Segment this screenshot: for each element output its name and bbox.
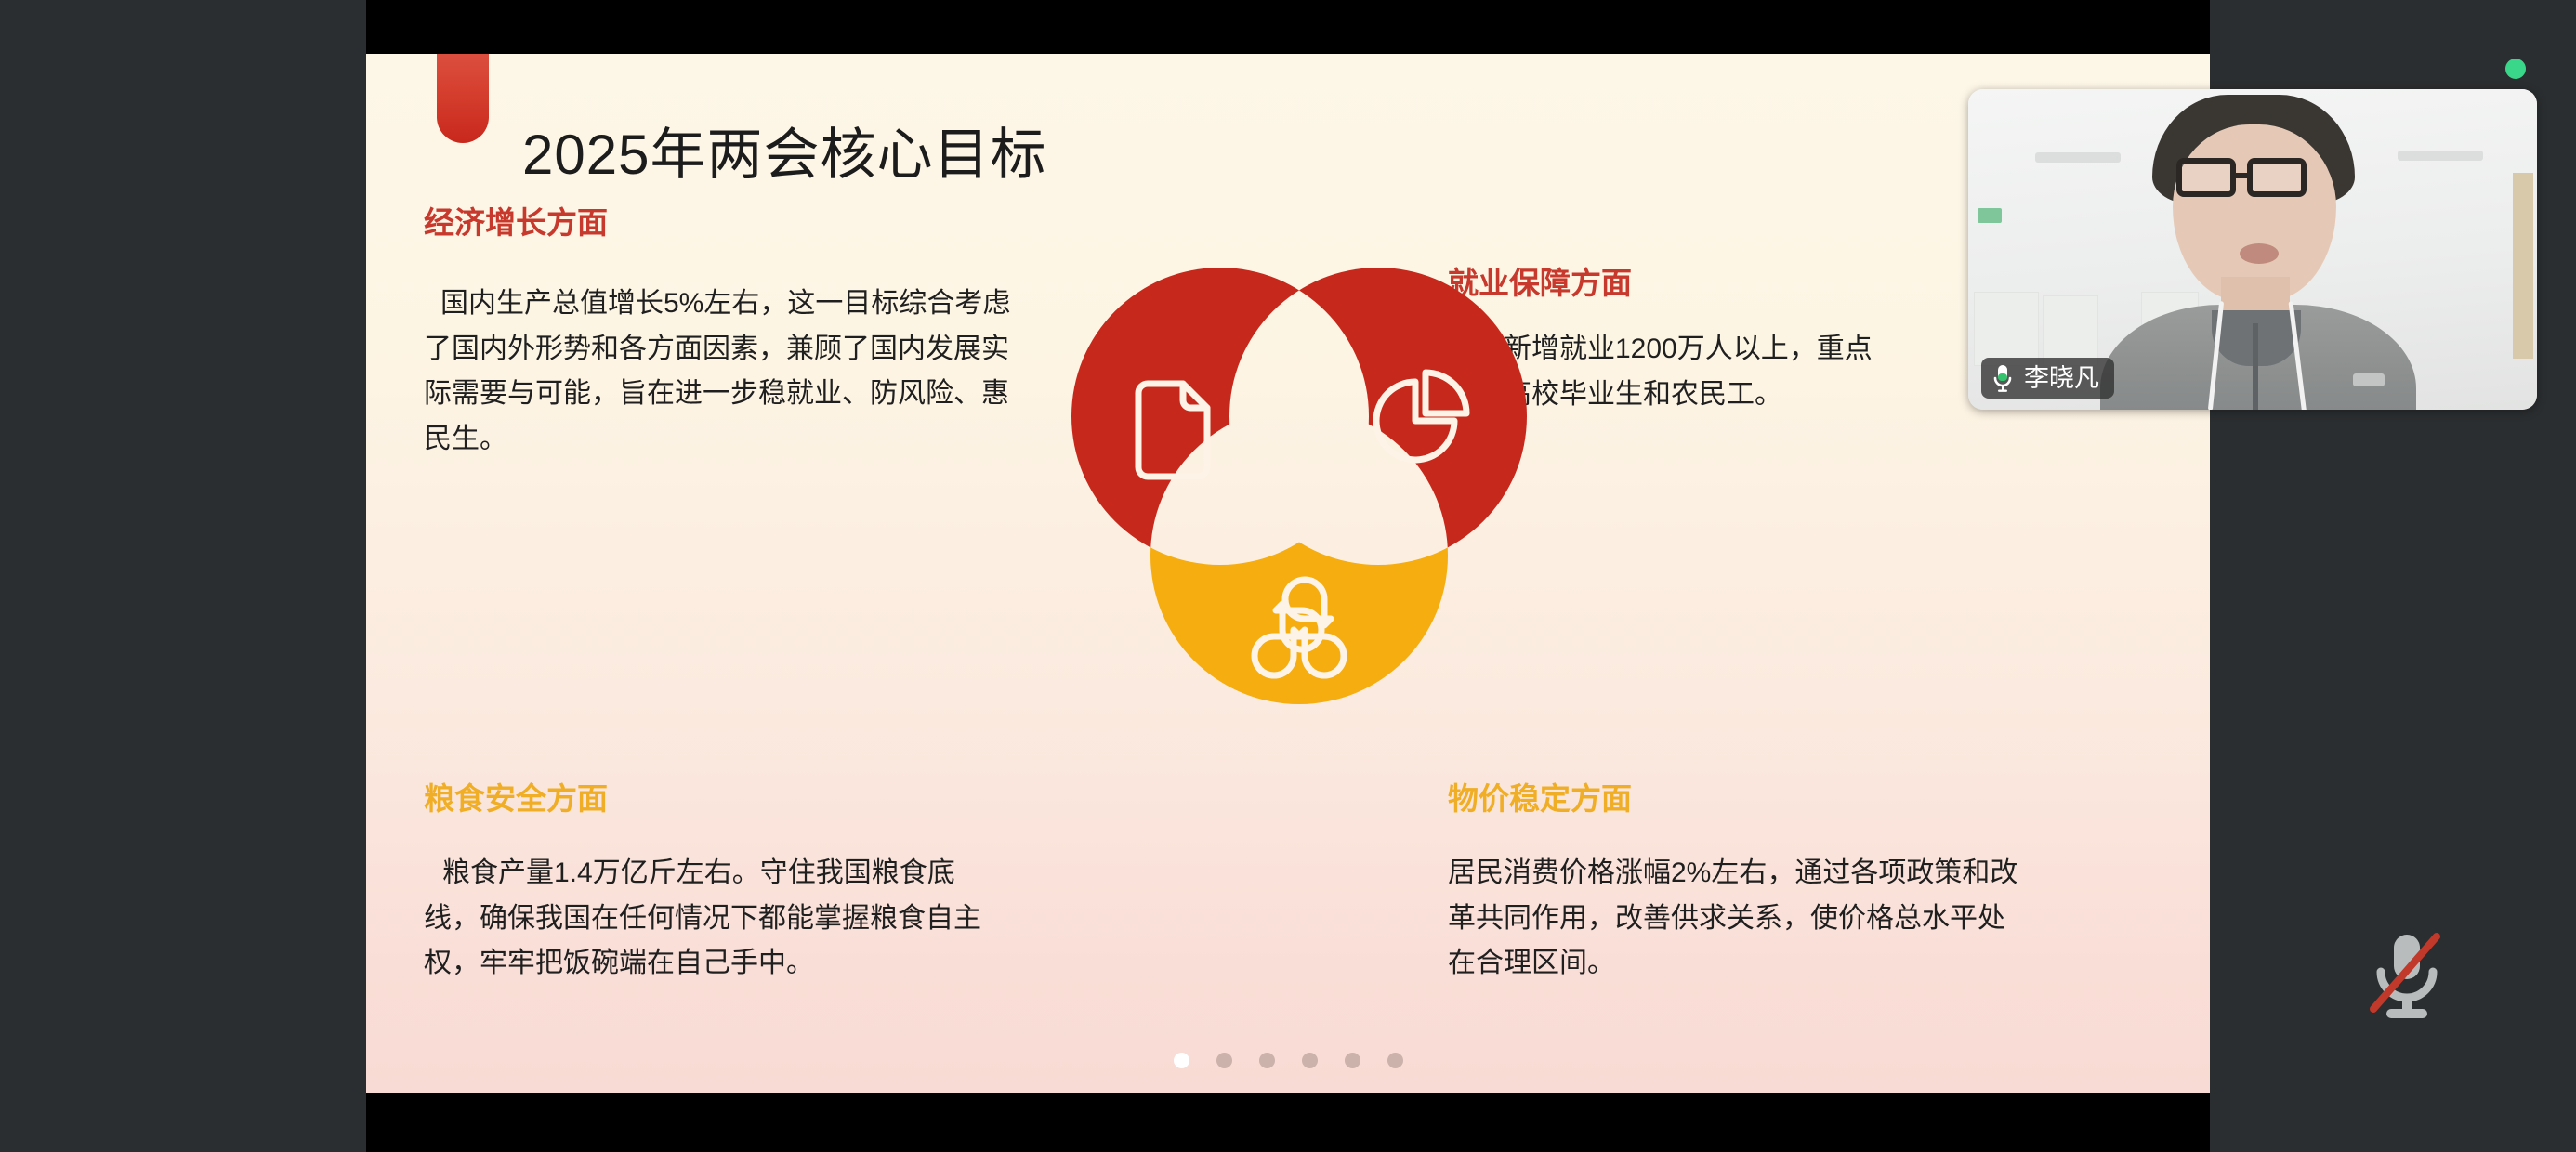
pagination-dot[interactable] xyxy=(1387,1053,1403,1068)
participant-video-tile[interactable]: 李晓凡 xyxy=(1968,89,2537,410)
microphone-icon xyxy=(1991,363,2015,393)
block-prices-heading: 物价稳定方面 xyxy=(1448,774,2024,818)
pagination-dot[interactable] xyxy=(1302,1053,1318,1068)
participant-name-badge: 李晓凡 xyxy=(1981,358,2114,399)
venn-circle-clover xyxy=(1150,407,1448,704)
block-economy: 经济增长方面 国内生产总值增长5%左右，这一目标综合考虑了国内外形势和各方面因素… xyxy=(424,198,1019,462)
participant-figure xyxy=(2132,95,2383,410)
block-prices: 物价稳定方面 居民消费价格涨幅2%左右，通过各项政策和改革共同作用，改善供求关系… xyxy=(1448,774,2024,987)
exit-sign xyxy=(1978,208,2002,223)
slide-pagination[interactable] xyxy=(366,1053,2210,1068)
glasses-lens-right xyxy=(2247,158,2307,197)
block-grain: 粮食安全方面 粮食产量1.4万亿斤左右。守住我国粮食底线，确保我国在任何情况下都… xyxy=(424,774,1000,987)
connection-status-dot xyxy=(2505,59,2526,79)
door xyxy=(2513,173,2533,359)
block-grain-body: 粮食产量1.4万亿斤左右。守住我国粮食底线，确保我国在任何情况下都能掌握粮食自主… xyxy=(424,851,1000,987)
jacket-logo xyxy=(2353,373,2385,386)
block-economy-heading: 经济增长方面 xyxy=(424,198,1019,242)
meeting-screen: 2025年两会核心目标 经济增长方面 国内生产总值增长5%左右，这一目标综合考虑… xyxy=(0,0,2576,1152)
slide-canvas[interactable]: 2025年两会核心目标 经济增长方面 国内生产总值增长5%左右，这一目标综合考虑… xyxy=(366,54,2210,1093)
ceiling-light xyxy=(2035,152,2121,163)
pagination-dot[interactable] xyxy=(1216,1053,1232,1068)
block-economy-body: 国内生产总值增长5%左右，这一目标综合考虑了国内外形势和各方面因素，兼顾了国内发… xyxy=(424,281,1019,462)
wall-panel xyxy=(2043,295,2098,366)
ceiling-light xyxy=(2398,151,2483,161)
glasses-lens-left xyxy=(2176,158,2236,197)
block-prices-body: 居民消费价格涨幅2%左右，通过各项政策和改革共同作用，改善供求关系，使价格总水平… xyxy=(1448,851,2024,987)
pagination-dot[interactable] xyxy=(1345,1053,1360,1068)
page-title: 2025年两会核心目标 xyxy=(522,110,1046,190)
title-accent-bar xyxy=(437,54,489,143)
microphone-muted-icon[interactable] xyxy=(2351,920,2463,1031)
venn-diagram xyxy=(1058,268,1541,732)
block-grain-heading: 粮食安全方面 xyxy=(424,774,1000,818)
pagination-dot[interactable] xyxy=(1174,1053,1189,1068)
wall-panel xyxy=(1974,292,2039,366)
pagination-dot[interactable] xyxy=(1259,1053,1275,1068)
participant-name-label: 李晓凡 xyxy=(2024,366,2099,391)
